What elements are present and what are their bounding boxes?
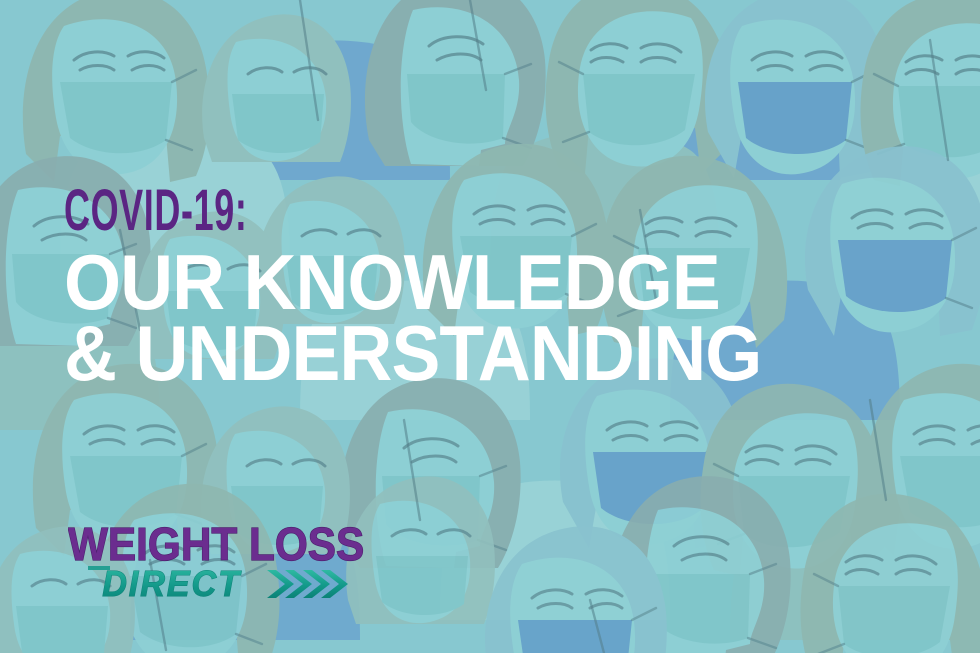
chevron-arrows-icon	[267, 570, 348, 598]
headline-line-2: & UNDERSTANDING	[64, 317, 854, 390]
page-title: OUR KNOWLEDGE & UNDERSTANDING	[64, 246, 854, 391]
weight-loss-direct-logo[interactable]: WEIGHT LOSS DIRECT	[68, 516, 368, 602]
logo-word-top: WEIGHT LOSS	[68, 519, 364, 570]
headline-block: COVID-19: OUR KNOWLEDGE & UNDERSTANDING	[64, 186, 904, 391]
headline-line-1: OUR KNOWLEDGE	[64, 246, 854, 319]
covid-banner: .skin { fill:#A9DFE0; } .mask { fill:#8F…	[0, 0, 980, 653]
logo-rule	[88, 566, 110, 570]
headline-eyebrow: COVID-19:	[64, 186, 585, 236]
logo-word-bottom: DIRECT	[102, 564, 241, 602]
